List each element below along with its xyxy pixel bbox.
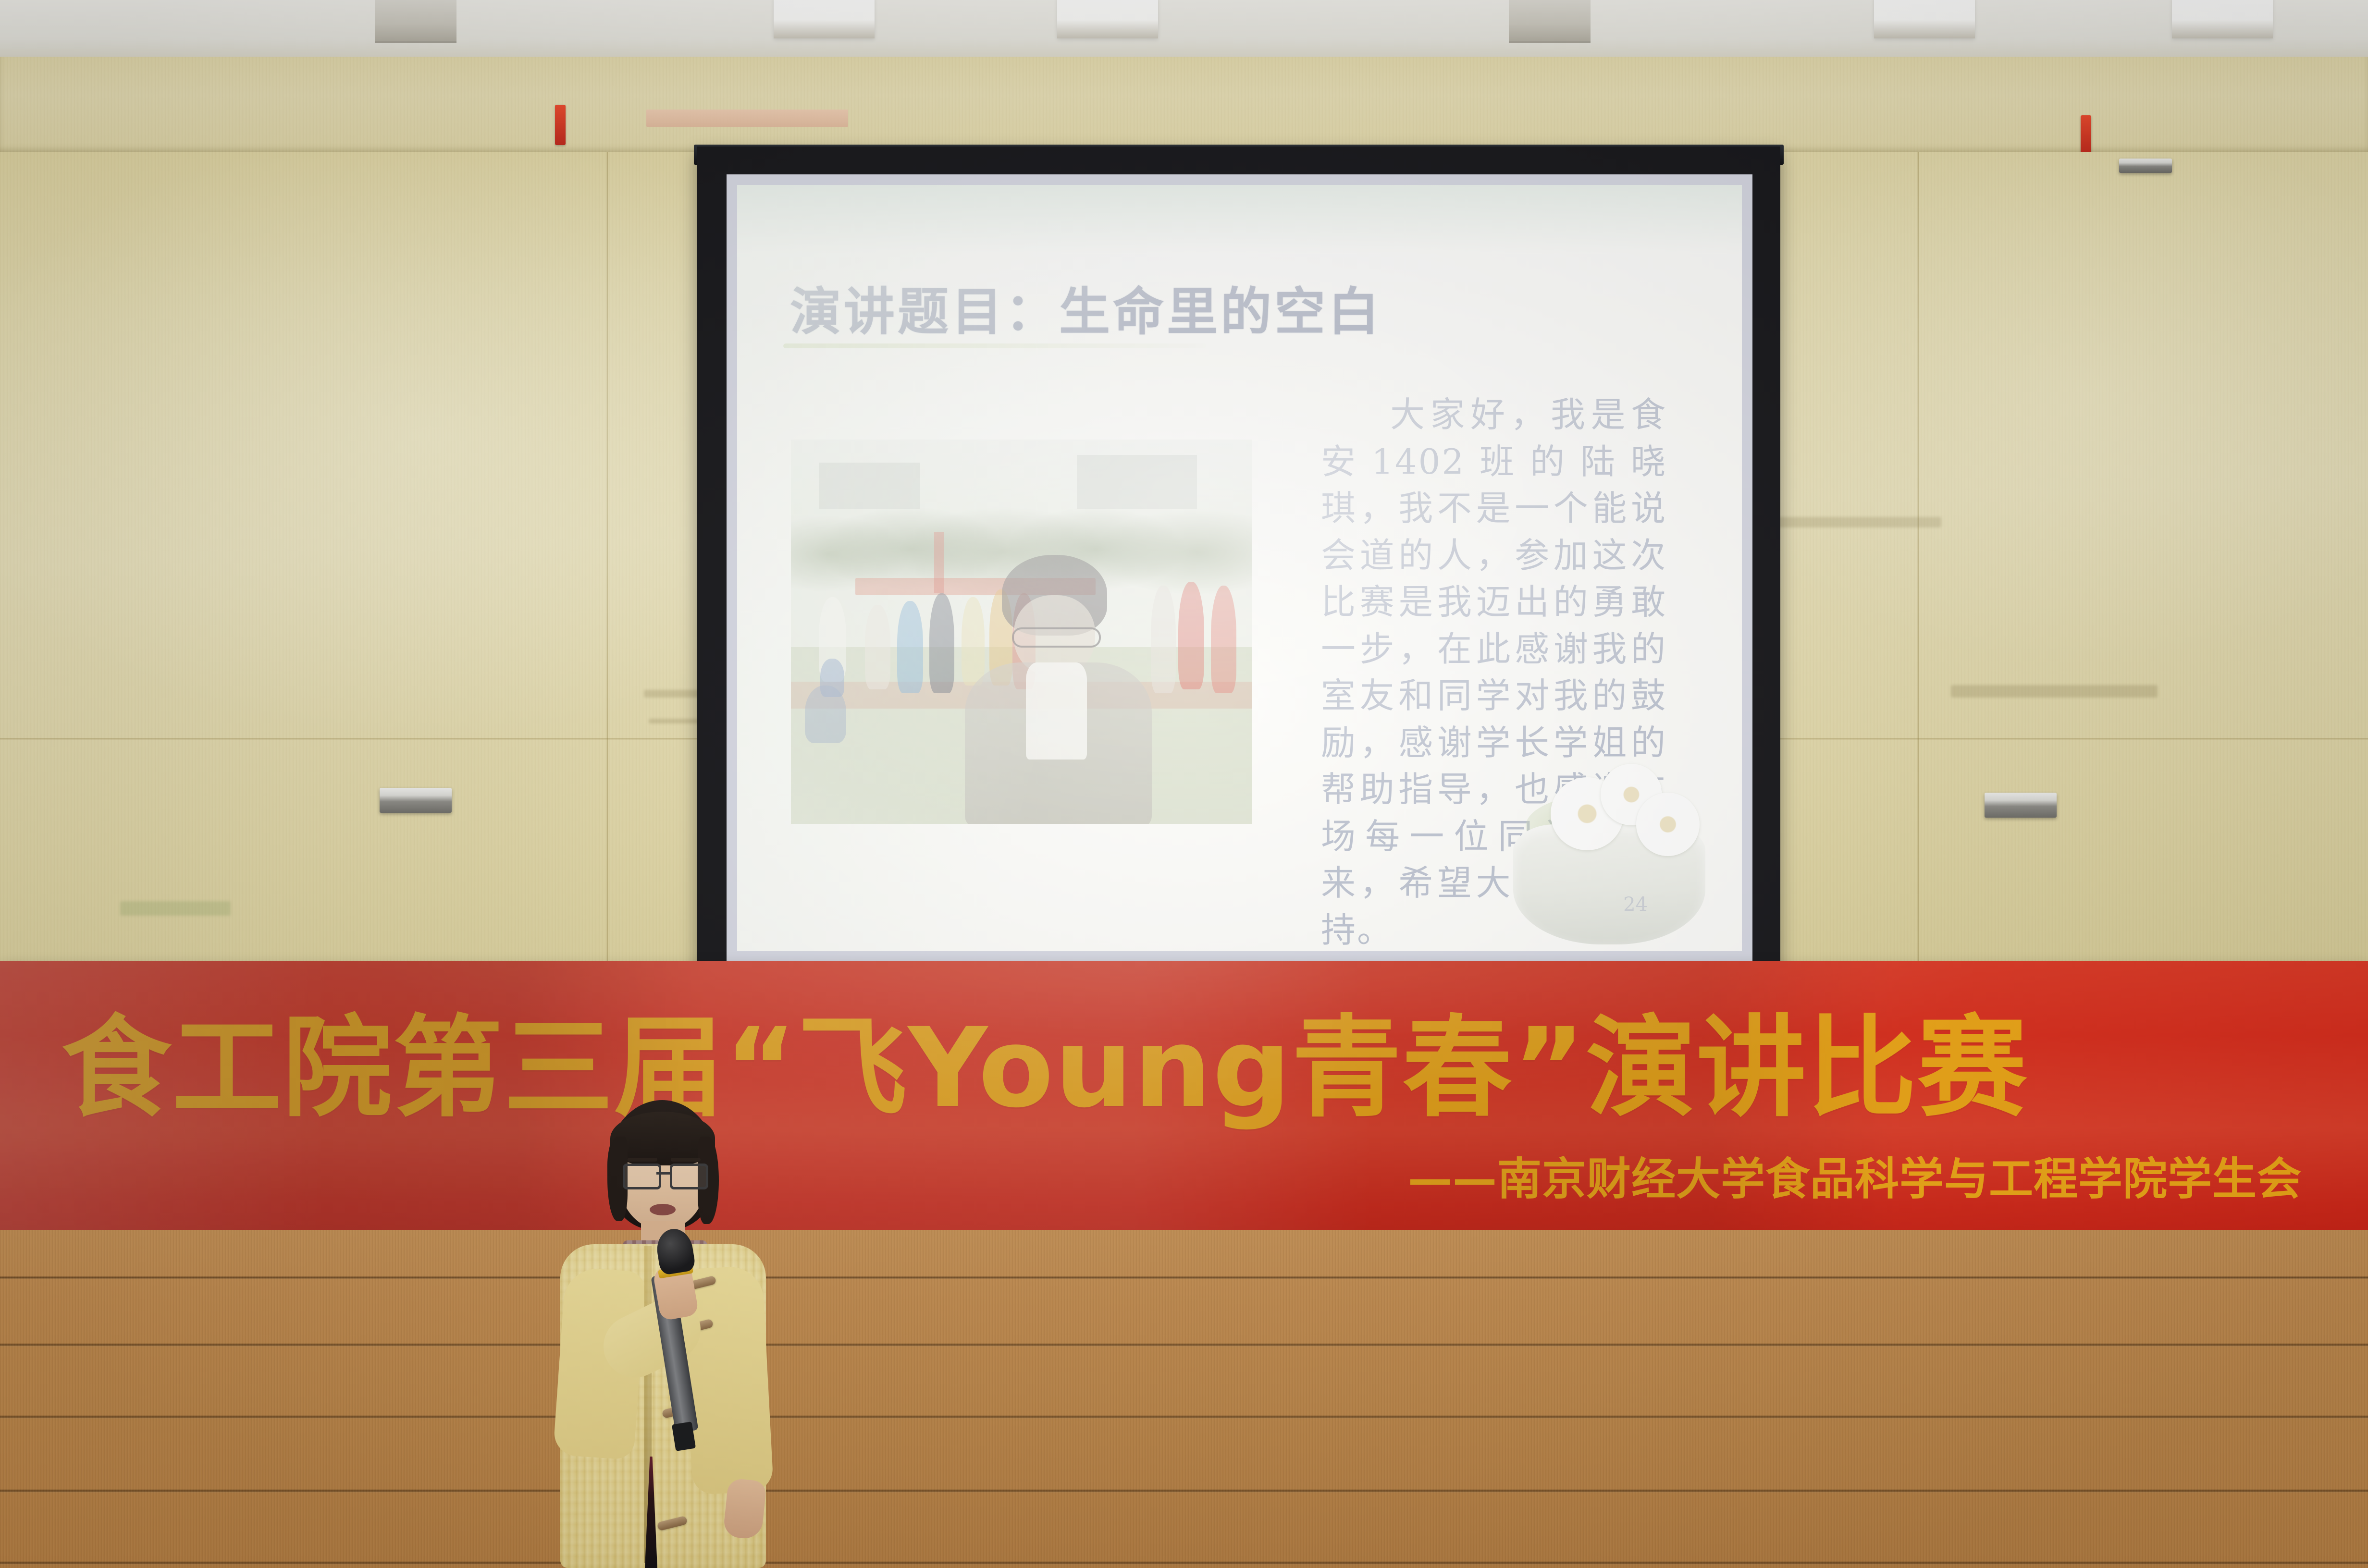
wall-groove [0,1489,2368,1493]
ceiling-light-icon [1874,0,1975,38]
photo-crowd-figure [929,593,954,693]
ceiling-vent-icon [375,0,456,43]
wall-lower-wainscot [0,1230,2368,1568]
photo-foreground-person [957,555,1160,824]
photo-crowd-figure [1178,582,1204,689]
microphone-tip [672,1421,696,1451]
presentation-slide: 演讲题目：生命里的空白 [737,185,1742,951]
presenter-mouth [650,1204,676,1215]
auditorium-scene: 演讲题目：生命里的空白 [0,0,2368,1568]
projection-screen: 演讲题目：生命里的空白 [697,147,1780,990]
wall-fixture-plate [2119,159,2172,173]
ceiling-light-icon [774,0,875,38]
banner-main-text: 食工院第三届“飞Young青春”演讲比赛 [62,979,2028,1138]
slide-flower-decoration [1499,738,1725,944]
glasses-lens [623,1164,661,1189]
screen-surface: 演讲题目：生命里的空白 [737,185,1742,951]
ceiling-light-icon [2172,0,2273,38]
wall-scuff [1951,685,2158,698]
ceiling-vent-icon [1509,0,1591,43]
photo-crowd-figure [805,686,846,743]
wall-groove [0,1561,2368,1565]
red-wall-marker-icon [555,105,566,145]
wall-tape-strip [646,110,848,127]
presenter-figure [543,1100,783,1568]
ceiling-light-icon [1057,0,1158,38]
presenter-eyebrow [628,1158,657,1162]
photo-person-glasses-icon [1012,627,1101,648]
slide-title-underline [783,343,1206,348]
wall-fixture-plate [380,788,452,813]
photo-crowd-figure [865,605,891,689]
red-wall-marker-icon [2081,115,2091,156]
slide-title: 演讲题目：生命里的空白 [790,270,1382,344]
slide-photo [791,440,1252,824]
photo-person-shirt [1026,662,1087,759]
wall-groove [0,1343,2368,1347]
wall-upper-band [0,57,2368,153]
presenter-eyebrow [671,1158,701,1162]
ceiling [0,0,2368,63]
photo-crowd-figure [1211,586,1237,693]
banner-subtitle: ——南京财经大学食品科学与工程学院学生会 [1408,1143,2302,1207]
glasses-bridge [656,1172,670,1175]
wall-fixture-plate [1985,793,2057,818]
glasses-lens [670,1164,708,1189]
wall-groove [0,1415,2368,1419]
wall-panel-seam [606,152,608,964]
wall-scuff [120,901,231,916]
screen-matte-border: 演讲题目：生命里的空白 [727,174,1752,962]
wall-scuff [1778,517,1941,527]
photo-crowd-figure [897,601,923,693]
woodgrain-texture [0,57,2368,153]
slide-number: 24 [1623,894,1648,916]
presenter-glasses-icon [623,1164,703,1185]
wall-groove [0,1276,2368,1279]
photo-flag [934,532,944,593]
event-banner: 食工院第三届“飞Young青春”演讲比赛 ——南京财经大学食品科学与工程学院学生… [0,961,2368,1249]
daisy-icon [1636,793,1700,856]
wall-panel-seam [1917,152,1919,964]
